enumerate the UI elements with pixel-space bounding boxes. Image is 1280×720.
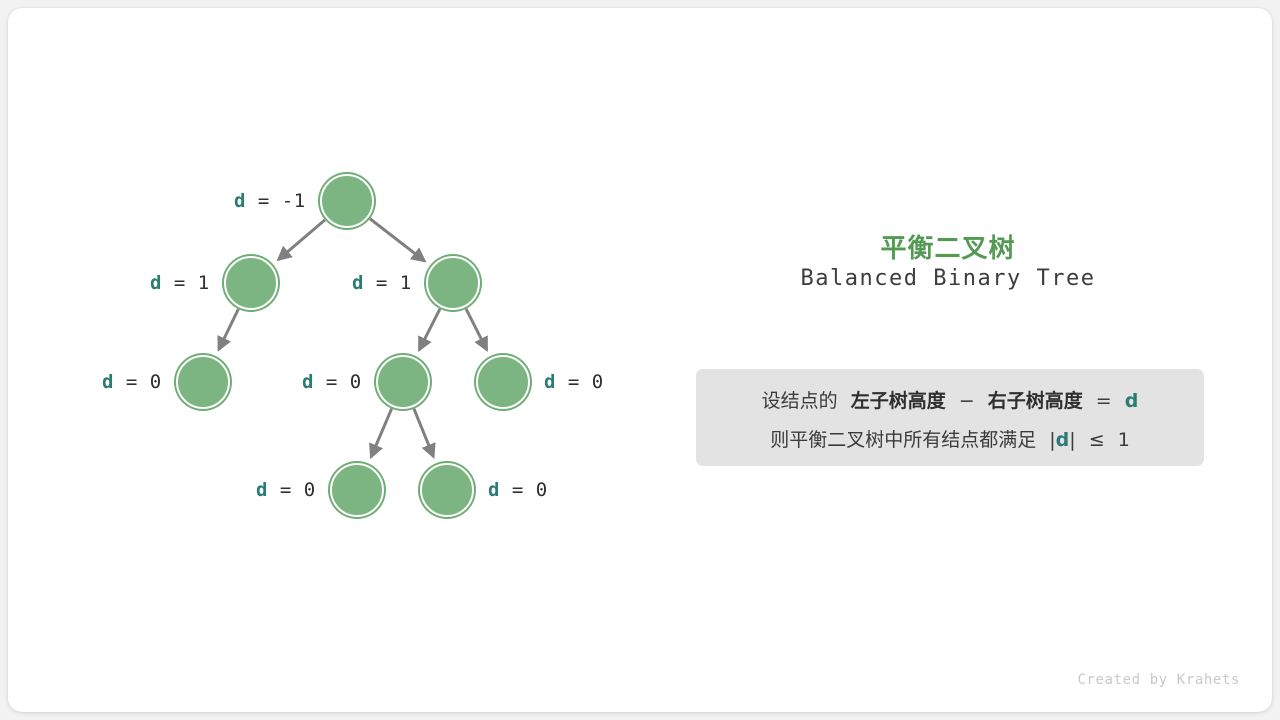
infobox-variable-d: d xyxy=(1125,390,1139,412)
infobox-prefix-2: 则平衡二叉树中所有结点都满足 xyxy=(770,429,1036,451)
footer-credit: Created by Krahets xyxy=(1077,672,1240,688)
panel-subtitle: Balanced Binary Tree xyxy=(648,266,1248,291)
slide-card xyxy=(8,8,1272,712)
infobox-term-left: 左子树高度 xyxy=(851,390,946,412)
panel-title: 平衡二叉树 xyxy=(648,228,1248,265)
infobox-line-1: 设结点的 左子树高度 − 右子树高度 = d xyxy=(696,386,1204,413)
infobox-prefix-1: 设结点的 xyxy=(762,390,838,412)
infobox-bound: 1 xyxy=(1118,429,1130,451)
infobox-minus: − xyxy=(959,390,975,412)
definition-infobox: 设结点的 左子树高度 − 右子树高度 = d 则平衡二叉树中所有结点都满足 |d… xyxy=(696,369,1204,466)
infobox-term-right: 右子树高度 xyxy=(988,390,1083,412)
infobox-equals: = xyxy=(1096,390,1112,412)
infobox-relation: ≤ xyxy=(1089,429,1105,451)
infobox-abs-close: | xyxy=(1069,429,1075,451)
infobox-variable-d-2: d xyxy=(1056,429,1070,451)
screenshot-root: d = -1d = 1d = 1d = 0d = 0d = 0d = 0d = … xyxy=(0,0,1280,720)
infobox-line-2: 则平衡二叉树中所有结点都满足 |d| ≤ 1 xyxy=(696,425,1204,452)
